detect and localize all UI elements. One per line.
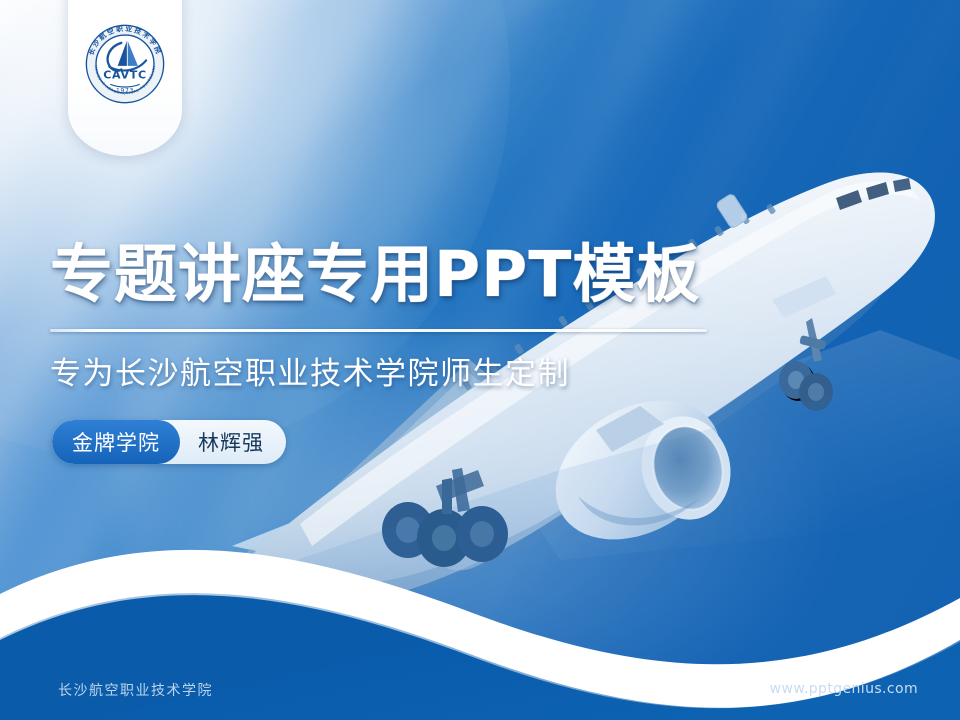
slide-title: 专题讲座专用PPT模板 — [50, 243, 700, 306]
cavtc-seal-icon: 长沙航空职业技术学院 CHANGSHA AERONAUTICAL POLYTEC… — [79, 18, 171, 110]
presenter-name: 林辉强 — [180, 420, 286, 464]
presentation-slide: 长沙航空职业技术学院 CHANGSHA AERONAUTICAL POLYTEC… — [0, 0, 960, 720]
footer-institution: 长沙航空职业技术学院 — [58, 680, 213, 700]
logo-year: 1973 — [116, 88, 134, 95]
university-logo-panel: 长沙航空职业技术学院 CHANGSHA AERONAUTICAL POLYTEC… — [68, 0, 182, 156]
title-divider — [50, 329, 707, 332]
footer-website[interactable]: www.pptgenius.com — [770, 681, 918, 697]
university-logo: 长沙航空职业技术学院 CHANGSHA AERONAUTICAL POLYTEC… — [79, 18, 171, 110]
presenter-badge[interactable]: 金牌学院 林辉强 — [52, 420, 286, 464]
logo-acronym: CAVTC — [103, 69, 147, 82]
badge-label: 金牌学院 — [52, 420, 180, 464]
slide-subtitle: 专为长沙航空职业技术学院师生定制 — [50, 348, 570, 393]
